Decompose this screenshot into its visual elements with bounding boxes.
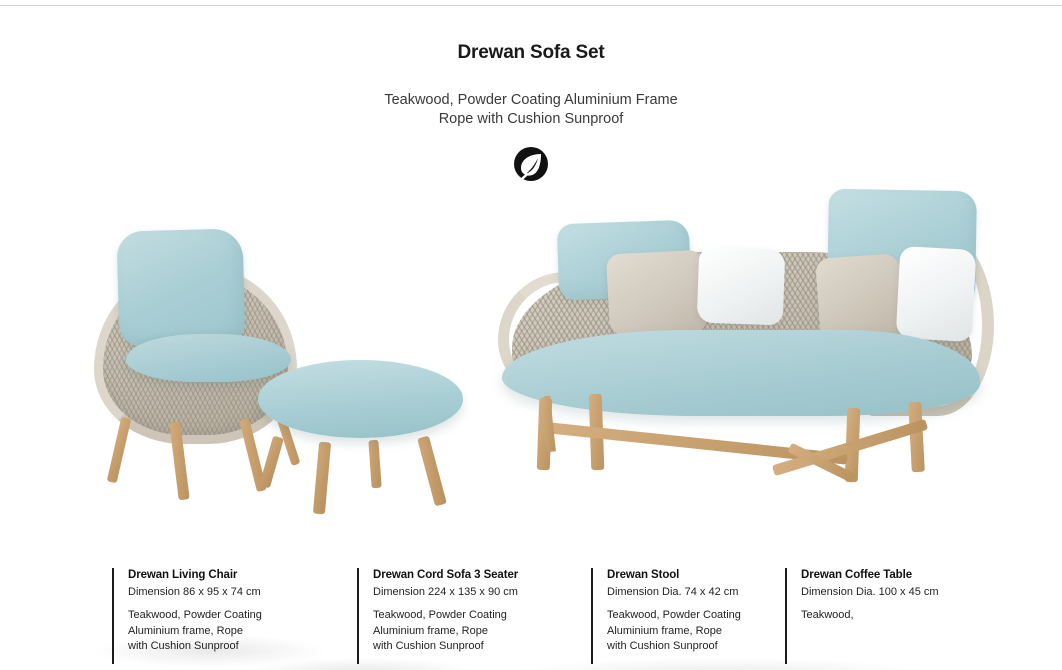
caption-coffee-table: Drewan Coffee Table Dimension Dia. 100 x… xyxy=(785,568,995,664)
caption-desc-line: Aluminium frame, Rope xyxy=(607,624,771,640)
caption-title: Drewan Living Chair xyxy=(128,568,327,583)
caption-title: Drewan Coffee Table xyxy=(801,568,995,583)
page-subtitle: Teakwood, Powder Coating Aluminium Frame… xyxy=(0,91,1062,129)
caption-desc-line: Teakwood, xyxy=(801,608,995,624)
stool-leg xyxy=(313,442,331,515)
caption-description: Teakwood, Powder Coating Aluminium frame… xyxy=(128,608,327,655)
sofa-accent-pillow-white xyxy=(896,246,977,342)
caption-desc-line: with Cushion Sunproof xyxy=(607,639,771,655)
subtitle-line-2: Rope with Cushion Sunproof xyxy=(0,110,1062,129)
stool-leg xyxy=(368,440,381,489)
caption-stool: Drewan Stool Dimension Dia. 74 x 42 cm T… xyxy=(591,568,771,664)
header: Drewan Sofa Set Teakwood, Powder Coating… xyxy=(0,42,1062,129)
caption-desc-line: Aluminium frame, Rope xyxy=(128,624,327,640)
subtitle-line-1: Teakwood, Powder Coating Aluminium Frame xyxy=(0,91,1062,110)
product-sheet-page: Drewan Sofa Set Teakwood, Powder Coating… xyxy=(0,0,1062,670)
caption-title: Drewan Cord Sofa 3 Seater xyxy=(373,568,572,583)
chair-leg xyxy=(107,417,132,484)
page-title: Drewan Sofa Set xyxy=(0,42,1062,64)
caption-description: Teakwood, xyxy=(801,608,995,624)
caption-dimension: Dimension 224 x 135 x 90 cm xyxy=(373,584,572,600)
sofa-accent-pillow-beige xyxy=(606,249,708,336)
stool-leg xyxy=(417,436,447,507)
stool-cushion xyxy=(258,360,463,438)
caption-desc-line: with Cushion Sunproof xyxy=(128,639,327,655)
top-divider-rule xyxy=(0,5,1062,6)
stool-photo xyxy=(250,360,475,515)
product-captions: Drewan Living Chair Dimension 86 x 95 x … xyxy=(0,560,1062,670)
caption-desc-line: Teakwood, Powder Coating xyxy=(128,608,327,624)
caption-living-chair: Drewan Living Chair Dimension 86 x 95 x … xyxy=(112,568,327,664)
product-photo-stage xyxy=(0,180,1062,545)
cord-sofa-3-seater-photo xyxy=(490,190,1010,525)
caption-title: Drewan Stool xyxy=(607,568,771,583)
caption-dimension: Dimension Dia. 74 x 42 cm xyxy=(607,584,771,600)
caption-cord-sofa-3-seater: Drewan Cord Sofa 3 Seater Dimension 224 … xyxy=(357,568,572,664)
chair-back-cushion xyxy=(117,228,246,347)
caption-description: Teakwood, Powder Coating Aluminium frame… xyxy=(373,608,572,655)
caption-desc-line: Teakwood, Powder Coating xyxy=(373,608,572,624)
caption-description: Teakwood, Powder Coating Aluminium frame… xyxy=(607,608,771,655)
caption-desc-line: Aluminium frame, Rope xyxy=(373,624,572,640)
caption-desc-line: with Cushion Sunproof xyxy=(373,639,572,655)
caption-dimension: Dimension Dia. 100 x 45 cm xyxy=(801,584,995,600)
caption-desc-line: Teakwood, Powder Coating xyxy=(607,608,771,624)
sofa-accent-pillow-white xyxy=(697,247,786,326)
stool-leg xyxy=(259,435,284,488)
caption-dimension: Dimension 86 x 95 x 74 cm xyxy=(128,584,327,600)
